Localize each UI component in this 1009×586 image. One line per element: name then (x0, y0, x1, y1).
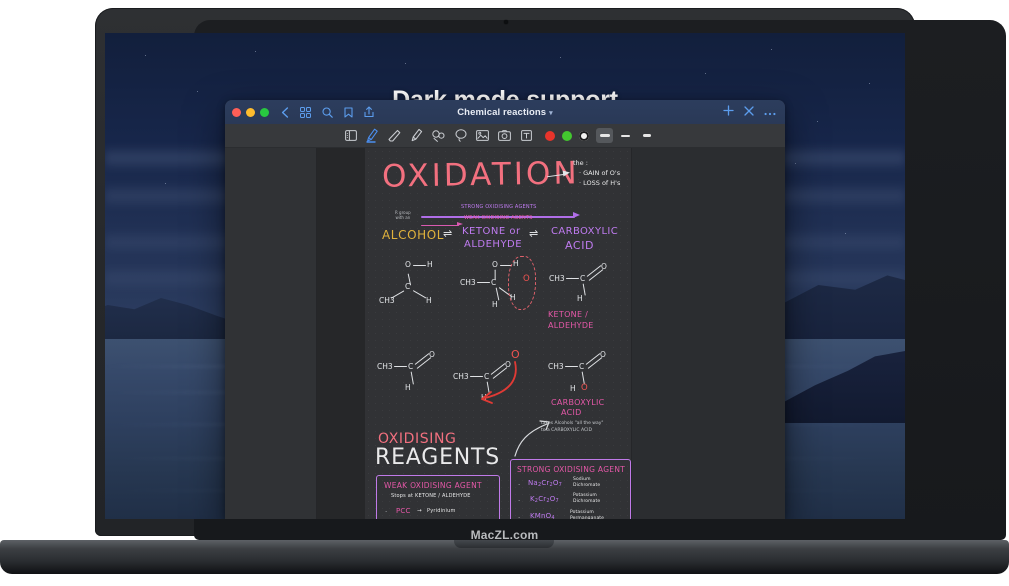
strong-item-0-formula: Na2Cr2O7 (528, 479, 562, 488)
weak-item-0-bullet: · (385, 508, 387, 516)
color-swatch-green[interactable] (562, 131, 572, 141)
term-acid: ACID (565, 239, 594, 252)
stroke-width-thin[interactable] (638, 128, 655, 143)
mid-arrow-head (457, 222, 463, 226)
page-gutter-left (317, 148, 365, 519)
definition-block: the : · GAIN of O's · LOSS of H's (573, 158, 620, 188)
laptop-base-notch (454, 540, 554, 548)
stroke-width-group[interactable] (596, 128, 659, 143)
close-x-icon[interactable] (744, 103, 754, 121)
reagents-title-reagents: REAGENTS (375, 445, 500, 470)
strong-item-1-bullet: · (518, 497, 520, 505)
strong-item-2-bullet: · (518, 514, 520, 519)
label-carboxylic-2: CARBOXYLIC (551, 398, 605, 407)
weak-item-0-arrow: → (417, 508, 422, 514)
more-ellipsis-icon[interactable] (764, 103, 776, 121)
strong-item-0-name: SodiumDichromate (573, 477, 600, 489)
carboxylic-note: takes Alcohols "all the way" to a CARBOX… (541, 420, 603, 434)
strong-item-2-formula: KMnO4 (530, 512, 555, 519)
term-ketone: KETONE or (462, 226, 521, 237)
note-canvas[interactable]: OXIDATION the : · GAIN of O's · LOSS of … (365, 148, 631, 519)
right-panel (631, 148, 785, 519)
window-body: OXIDATION the : · GAIN of O's · LOSS of … (225, 148, 785, 519)
label-acid-2: ACID (561, 408, 582, 417)
term-alcohol: ALCOHOL (382, 228, 444, 242)
title-chevron-down-icon[interactable]: ▾ (549, 110, 553, 117)
mid-arrow-line (421, 225, 459, 226)
color-swatch-black-selected[interactable] (579, 131, 589, 141)
highlight-ring (508, 256, 536, 310)
strong-box-title: STRONG OXIDISING AGENT (517, 465, 625, 474)
molecule-6: CH3 C O H O (548, 352, 610, 404)
drawing-toolbar[interactable] (225, 124, 785, 148)
equilibrium-symbol-1: ⇌ (443, 227, 452, 240)
alcohol-note: R group with an (395, 210, 411, 220)
text-icon[interactable] (517, 127, 536, 144)
grid-icon[interactable] (300, 107, 311, 118)
weak-box-title: WEAK OXIDISING AGENT (384, 481, 482, 490)
pen-icon[interactable] (363, 127, 382, 144)
search-icon[interactable] (322, 107, 333, 118)
strong-item-0-bullet: · (518, 481, 520, 489)
close-button[interactable] (232, 108, 241, 117)
bookmark-icon[interactable] (344, 107, 353, 118)
stroke-width-medium[interactable] (617, 128, 634, 143)
zoom-button[interactable] (260, 108, 269, 117)
definition-lead: the : (573, 158, 620, 168)
camera-icon[interactable] (495, 127, 514, 144)
molecule-2: O H CH3 C H H O (460, 256, 538, 322)
screenshot-root: Dark mode support (0, 0, 1009, 586)
window-titlebar: Chemical reactions▾ (225, 100, 785, 124)
top-arrow-head (573, 212, 580, 218)
lasso-icon[interactable] (451, 127, 470, 144)
strong-item-1-name: PotassiumDichromate (573, 493, 600, 505)
image-icon[interactable] (473, 127, 492, 144)
traffic-lights[interactable] (232, 108, 269, 117)
equilibrium-symbol-2: ⇌ (529, 227, 538, 240)
strong-item-2-name: PotassiumPermanganate (570, 510, 604, 519)
app-window: Chemical reactions▾ (225, 100, 785, 519)
strong-item-1-formula: K2Cr2O7 (530, 495, 559, 504)
shapes-icon[interactable] (429, 127, 448, 144)
add-page-icon[interactable] (723, 103, 734, 121)
top-arrow-label: STRONG OXIDISING AGENTS (461, 204, 536, 210)
molecule-3: CH3 C O H (549, 264, 611, 312)
eraser-icon[interactable] (385, 127, 404, 144)
weak-item-0-name: Pyridinium (427, 508, 456, 514)
color-swatches[interactable] (545, 131, 596, 141)
color-swatch-red[interactable] (545, 131, 555, 141)
highlighter-icon[interactable] (407, 127, 426, 144)
weak-box-subtitle: Stops at KETONE / ALDEHYDE (391, 493, 471, 499)
back-chevron-icon[interactable] (281, 107, 289, 118)
notes-sidebar[interactable] (225, 148, 317, 519)
molecule-4: CH3 C O H (377, 352, 439, 400)
stroke-width-thick[interactable] (596, 128, 613, 143)
weak-item-0-formula: PCC (396, 507, 411, 515)
label-ketone-aldehyde-2: ALDEHYDE (548, 321, 594, 330)
minimize-button[interactable] (246, 108, 255, 117)
page-layout-icon[interactable] (341, 127, 360, 144)
webcam-icon (504, 20, 508, 24)
term-carboxylic: CARBOXYLIC (551, 226, 618, 237)
red-curved-arrow (469, 358, 527, 410)
definition-bullet-0: · GAIN of O's (579, 168, 620, 178)
mid-arrow-label: WEAK OXIDISING AGENTS (464, 215, 533, 221)
desktop-screen: Dark mode support (105, 33, 905, 519)
share-icon[interactable] (364, 106, 374, 118)
molecule-1: O H C H CH3 (379, 260, 449, 320)
label-ketone-aldehyde-1: KETONE / (548, 310, 588, 319)
heading-arrow-head (563, 170, 571, 177)
term-aldehyde: ALDEHYDE (464, 239, 522, 250)
definition-bullet-1: · LOSS of H's (579, 178, 620, 188)
